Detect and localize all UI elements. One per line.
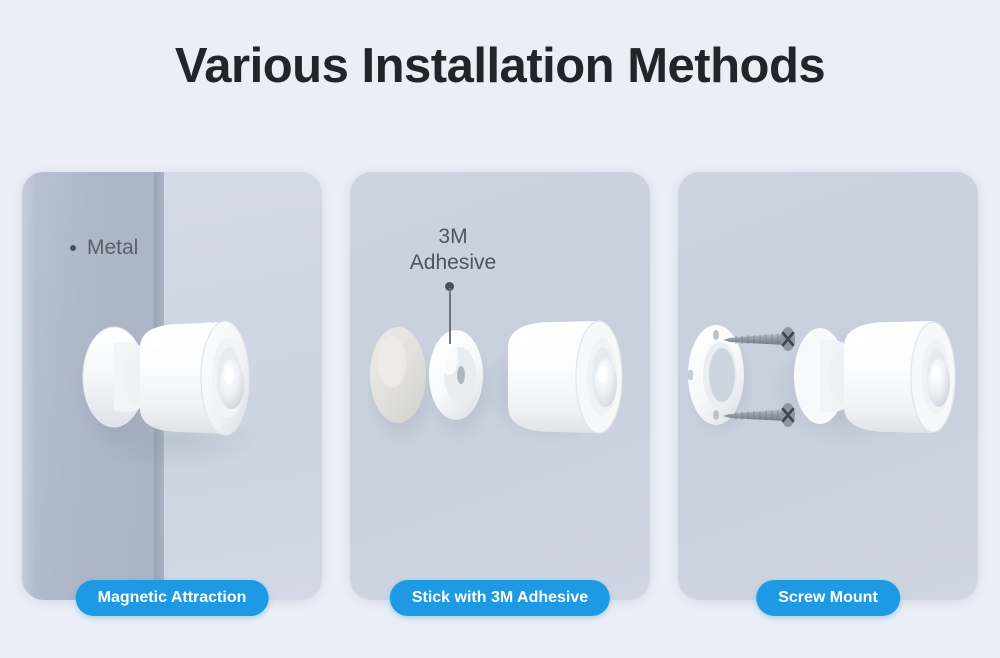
- illustration-screw-mount-exploded: [678, 172, 978, 600]
- installation-methods-gallery: Metal Magnetic Attraction: [0, 172, 1000, 612]
- panel-stick-with-3m-adhesive[interactable]: 3M Adhesive Stick with 3M Adhesive: [350, 172, 650, 600]
- bullet-icon: [70, 245, 76, 251]
- badge-magnetic-attraction[interactable]: Magnetic Attraction: [76, 580, 269, 616]
- leader-line: [449, 288, 451, 344]
- annotation-3m-line1: 3M: [368, 224, 538, 250]
- panel-background-screw: [678, 172, 978, 600]
- badge-stick-with-3m-adhesive[interactable]: Stick with 3M Adhesive: [390, 580, 610, 616]
- illustration-magnetic-sensor: [22, 172, 322, 600]
- page-title: Various Installation Methods: [0, 38, 1000, 94]
- panel-screw-mount[interactable]: Screw Mount: [678, 172, 978, 600]
- annotation-3m-adhesive: 3M Adhesive: [368, 224, 538, 275]
- panel-background-magnetic: [22, 172, 322, 600]
- panel-magnetic-attraction[interactable]: Metal Magnetic Attraction: [22, 172, 322, 600]
- annotation-metal: Metal: [70, 236, 138, 260]
- badge-screw-mount[interactable]: Screw Mount: [756, 580, 900, 616]
- annotation-3m-line2: Adhesive: [368, 250, 538, 276]
- annotation-metal-text: Metal: [87, 236, 138, 260]
